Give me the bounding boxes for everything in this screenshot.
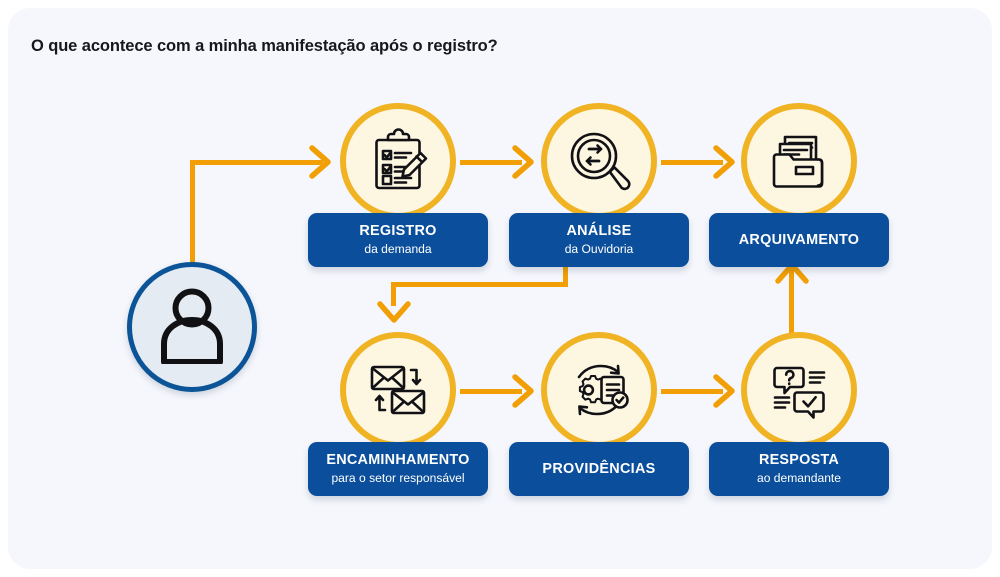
avatar bbox=[127, 262, 257, 392]
clipboard-checklist-pencil-icon bbox=[364, 127, 432, 195]
page-title: O que acontece com a minha manifestação … bbox=[31, 37, 498, 56]
step-subtitle-encaminhamento: para o setor responsável bbox=[331, 471, 464, 486]
step-circle-arquivamento bbox=[741, 103, 857, 219]
step-box-encaminhamento[interactable]: ENCAMINHAMENTO para o setor responsável bbox=[308, 442, 488, 496]
step-subtitle-analise: da Ouvidoria bbox=[565, 242, 634, 257]
arrow-head-actor-to-registro bbox=[308, 144, 334, 180]
arrow-head-providencias-to-resposta bbox=[712, 373, 738, 409]
step-circle-encaminhamento bbox=[340, 332, 456, 448]
two-envelopes-forward-icon bbox=[364, 356, 432, 424]
step-title-registro: REGISTRO bbox=[359, 223, 436, 240]
step-box-providencias[interactable]: PROVIDÊNCIAS bbox=[509, 442, 689, 496]
arrow-head-analise-to-arquivamento bbox=[712, 144, 738, 180]
arrow-head-analise-to-encaminhamento bbox=[376, 300, 412, 326]
step-box-analise[interactable]: ANÁLISE da Ouvidoria bbox=[509, 213, 689, 267]
step-title-resposta: RESPOSTA bbox=[759, 452, 839, 469]
step-circle-providencias bbox=[541, 332, 657, 448]
step-box-resposta[interactable]: RESPOSTA ao demandante bbox=[709, 442, 889, 496]
step-circle-resposta bbox=[741, 332, 857, 448]
step-title-encaminhamento: ENCAMINHAMENTO bbox=[326, 452, 469, 469]
step-box-registro[interactable]: REGISTRO da demanda bbox=[308, 213, 488, 267]
magnifier-exchange-arrows-icon bbox=[565, 127, 633, 195]
step-circle-analise bbox=[541, 103, 657, 219]
arrow-head-registro-to-analise bbox=[511, 144, 537, 180]
step-circle-registro bbox=[340, 103, 456, 219]
arrow-actor-to-registro-horizontal bbox=[190, 160, 323, 165]
step-box-arquivamento[interactable]: ARQUIVAMENTO bbox=[709, 213, 889, 267]
diagram-panel: O que acontece com a minha manifestação … bbox=[8, 8, 992, 569]
archive-folder-documents-icon bbox=[765, 127, 833, 195]
step-title-arquivamento: ARQUIVAMENTO bbox=[739, 232, 860, 249]
arrow-head-encaminhamento-to-providencias bbox=[511, 373, 537, 409]
question-answer-bubbles-icon bbox=[765, 356, 833, 424]
step-title-providencias: PROVIDÊNCIAS bbox=[542, 461, 655, 478]
step-subtitle-resposta: ao demandante bbox=[757, 471, 841, 486]
user-icon bbox=[155, 286, 229, 369]
step-subtitle-registro: da demanda bbox=[364, 242, 431, 257]
gear-document-check-cycle-icon bbox=[565, 356, 633, 424]
arrow-analise-to-encaminhamento-horizontal bbox=[391, 282, 568, 287]
step-title-analise: ANÁLISE bbox=[567, 223, 632, 240]
